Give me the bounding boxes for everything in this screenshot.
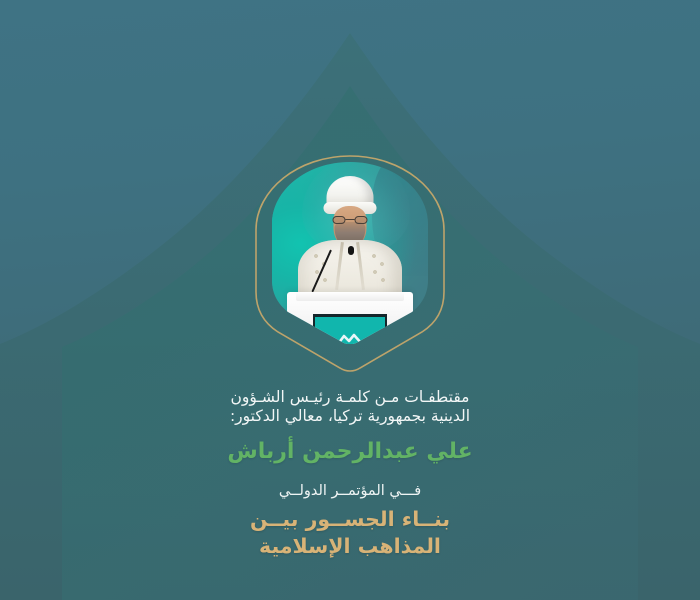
poster-canvas: مقتطفـات مـن كلمـة رئيـس الشـؤون الدينية…: [0, 0, 700, 600]
poster-text-block: مقتطفـات مـن كلمـة رئيـس الشـؤون الدينية…: [0, 388, 700, 558]
speaker-name: علي عبدالرحمن أرباش: [0, 439, 700, 465]
event-title-line-2: المذاهب الإسلامية: [0, 534, 700, 558]
intro-line-1: مقتطفـات مـن كلمـة رئيـس الشـؤون: [0, 388, 700, 406]
microphone-head: [348, 246, 354, 255]
portrait-frame: [250, 150, 450, 375]
intro-line-2: الدينية بجمهورية تركيا، معالي الدكتور:: [0, 407, 700, 425]
turban: [327, 176, 374, 210]
event-title-line-1: بنــاء الجســور بيــن: [0, 507, 700, 531]
glasses-icon: [333, 216, 368, 225]
event-prefix: فـــي المؤتمــر الدولــي: [0, 483, 700, 500]
